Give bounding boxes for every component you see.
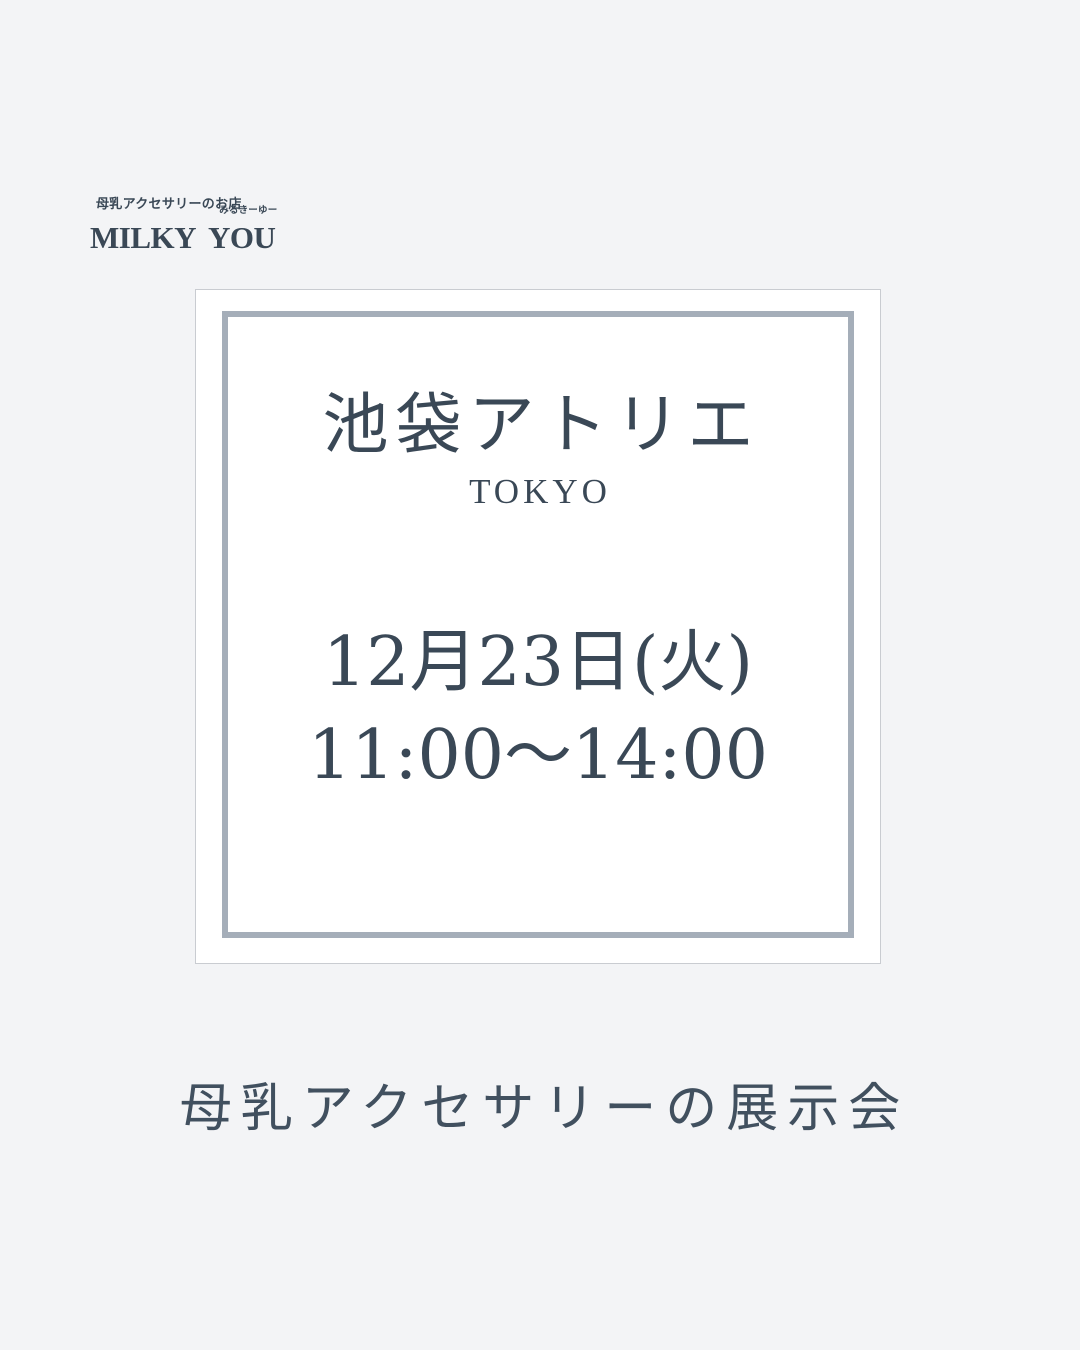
schedule-block: 12月23日(火) 11:00〜14:00: [308, 616, 768, 804]
schedule-time: 11:00〜14:00: [308, 709, 768, 803]
schedule-date: 12月23日(火): [308, 616, 768, 710]
poster-canvas: 母乳アクセサリーのお店 MilkyYou みるきーゆー 池袋アトリエ TOKYO…: [0, 0, 1080, 1350]
brand-word-milky: Milky: [90, 213, 196, 255]
venue-title: 池袋アトリエ: [316, 389, 761, 462]
event-card: 池袋アトリエ TOKYO 12月23日(火) 11:00〜14:00: [195, 289, 881, 964]
event-caption: 母乳アクセサリーの展示会: [0, 1078, 1080, 1140]
event-card-inner-frame: 池袋アトリエ TOKYO 12月23日(火) 11:00〜14:00: [222, 311, 854, 938]
venue-subtitle: TOKYO: [465, 472, 611, 512]
brand-ruby-furigana: みるきーゆー: [219, 202, 277, 216]
brand-word-you: You: [208, 213, 275, 255]
brand-wordmark: MilkyYou みるきーゆー: [90, 213, 275, 255]
brand-logo[interactable]: 母乳アクセサリーのお店 MilkyYou みるきーゆー: [90, 198, 510, 255]
